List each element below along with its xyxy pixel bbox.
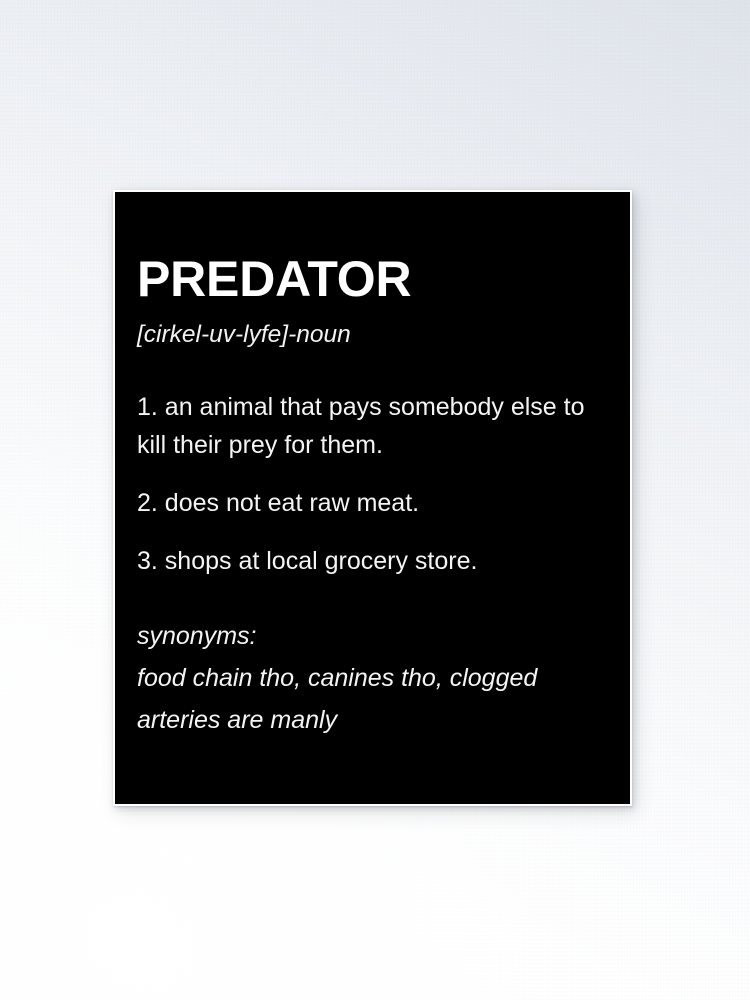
definition-term: PREDATOR [137,254,411,304]
poster-content: PREDATOR [cirkel-uv-lyfe]-noun 1. an ani… [137,192,616,804]
poster-scene: PREDATOR [cirkel-uv-lyfe]-noun 1. an ani… [0,0,750,1000]
definition-entry: 3. shops at local grocery store. [137,542,616,580]
poster-face: PREDATOR [cirkel-uv-lyfe]-noun 1. an ani… [115,192,630,804]
synonyms-label: synonyms: [137,615,616,657]
definition-entry: 2. does not eat raw meat. [137,484,616,522]
synonyms-block: synonyms: food chain tho, canines tho, c… [137,615,616,741]
definition-entry: 1. an animal that pays somebody else to … [137,388,616,464]
synonyms-values: food chain tho, canines tho, clogged art… [137,657,607,741]
pronunciation-text: [cirkel-uv-lyfe]-noun [137,323,351,348]
definition-list: 1. an animal that pays somebody else to … [137,388,616,580]
poster: PREDATOR [cirkel-uv-lyfe]-noun 1. an ani… [113,190,632,806]
